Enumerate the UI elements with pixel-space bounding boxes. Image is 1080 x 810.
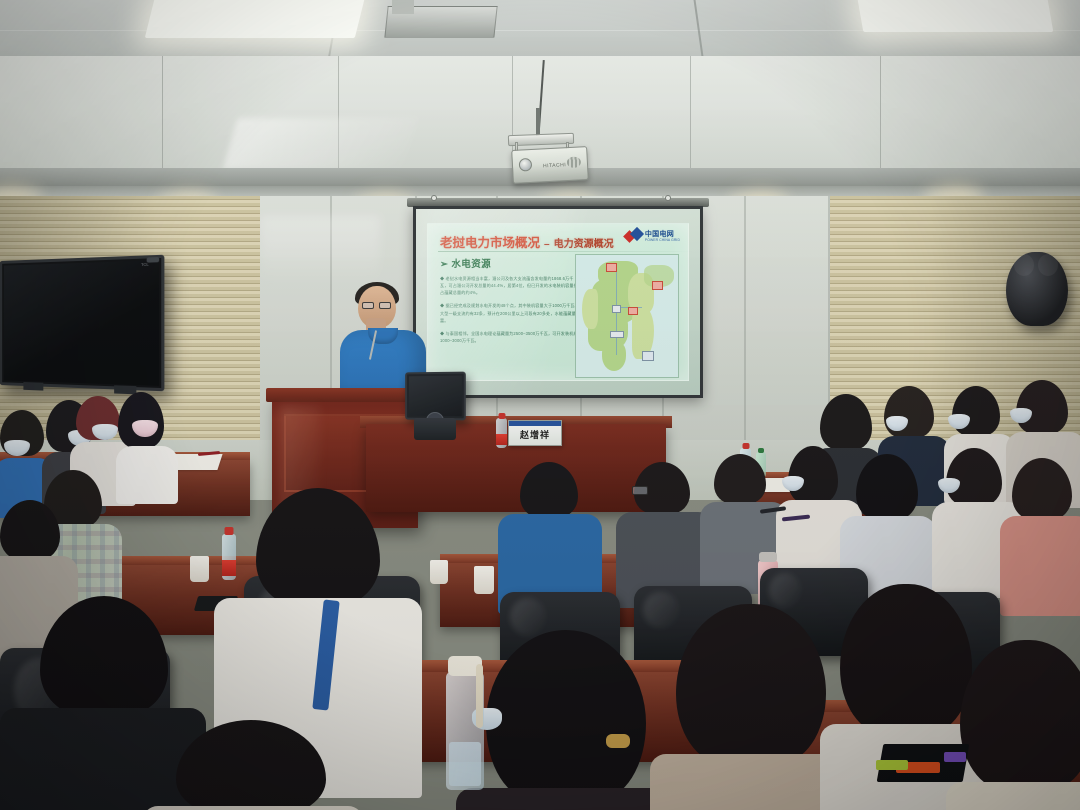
slide-paragraph: ◆ 据已经完成及规划水电开发的48个点，其中装机容量大于1000万千瓦的大型一级… xyxy=(440,302,582,323)
placard-header-bar xyxy=(509,421,561,426)
presenter-glasses-right xyxy=(379,302,391,309)
paper-cup[interactable] xyxy=(430,560,448,584)
wall-speaker-right xyxy=(1006,252,1068,326)
highlighter-pen[interactable] xyxy=(876,760,908,770)
presentation-slide: 老挝电力市场概况 – 电力资源概况 中国电网 POWER CHINA GRID … xyxy=(427,223,689,381)
slide-body: ➢ 水电资源 ◆ 老挝水电资源相当丰富，湄公河及各大支流蕴含发电量约1868.6… xyxy=(440,256,582,350)
presenter-glasses-left xyxy=(362,302,374,309)
slide-section-heading: ➢ 水电资源 xyxy=(440,256,582,270)
name-placard: 赵增祥 xyxy=(508,420,562,446)
slide-title-dash: – xyxy=(542,239,552,250)
slide-title-rule xyxy=(438,251,694,252)
ceiling-light-panel-right xyxy=(857,0,1054,32)
lecture-room-photo: HITACHI 老挝电力市场概况 – 电力资源概况 中国电网 xyxy=(0,0,1080,810)
ceiling-vent-stub xyxy=(392,0,414,14)
water-bottle[interactable] xyxy=(222,534,236,580)
clear-water-bottle[interactable] xyxy=(446,672,484,790)
placard-name-text: 赵增祥 xyxy=(509,428,561,441)
projector-mount-pole xyxy=(536,108,540,136)
projection-screen: 老挝电力市场概况 – 电力资源概况 中国电网 POWER CHINA GRID … xyxy=(413,206,703,398)
wall-mounted-display[interactable]: TCL xyxy=(0,255,164,392)
ceiling-projector: HITACHI xyxy=(511,146,589,184)
display-brand-label: TCL xyxy=(141,262,149,267)
podium-top-surface xyxy=(266,388,424,402)
paper-cup[interactable] xyxy=(474,566,494,594)
monitor-stand xyxy=(414,418,456,440)
water-bottle[interactable] xyxy=(496,418,507,448)
slide-paragraph: ◆ 与泰国相邻，全国水电理论蕴藏量为2500–3500万千瓦，可开发装机约为10… xyxy=(440,330,582,344)
paper-cup[interactable] xyxy=(190,556,209,582)
grid-logo-cn: 中国电网 xyxy=(645,231,680,238)
slide-title: 老挝电力市场概况 – 电力资源概况 xyxy=(440,232,614,251)
projector-vent xyxy=(567,156,582,168)
display-screen xyxy=(4,260,159,386)
projector-lens xyxy=(519,158,533,172)
grid-logo-en: POWER CHINA GRID xyxy=(645,239,680,242)
slide-title-sub: 电力资源概况 xyxy=(554,235,614,250)
projector-brand-label: HITACHI xyxy=(543,162,566,169)
monitor-screen xyxy=(409,376,462,417)
slide-paragraph: ◆ 老挝水电资源相当丰富，湄公河及各大支流蕴含发电量约1868.6万千瓦，可占湄… xyxy=(440,275,582,296)
grid-logo-mark-icon xyxy=(625,229,642,244)
marker-pen[interactable] xyxy=(944,752,966,762)
ceiling-light-panel-left xyxy=(145,0,365,38)
slide-map-image xyxy=(575,254,679,378)
state-grid-logo: 中国电网 POWER CHINA GRID xyxy=(625,229,680,244)
slide-title-main: 老挝电力市场概况 xyxy=(440,232,540,251)
